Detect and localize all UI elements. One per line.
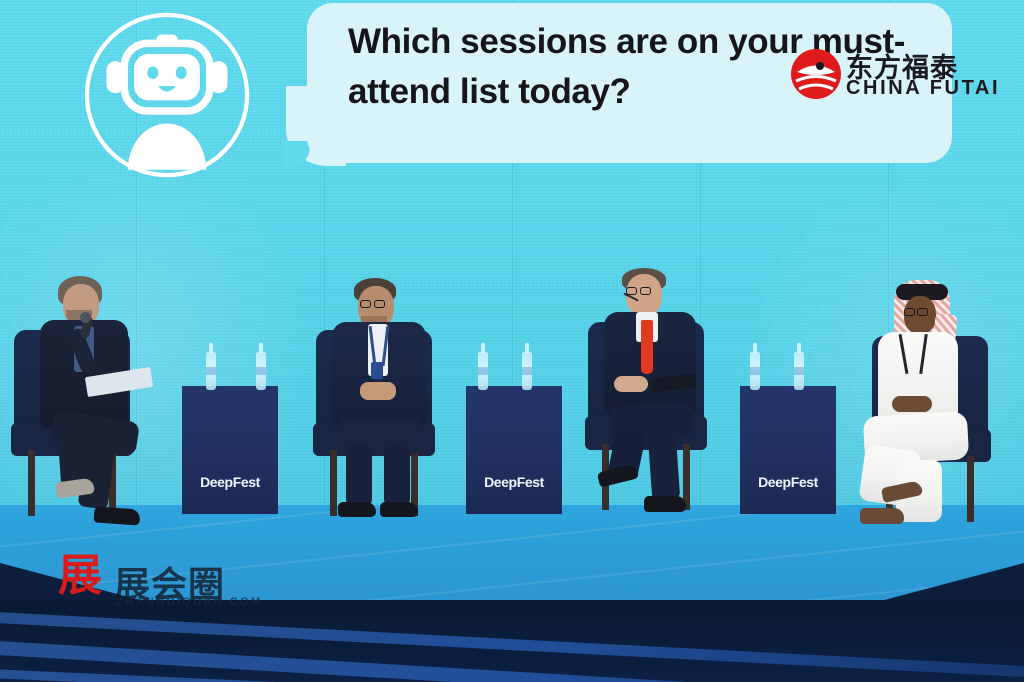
eyeglasses — [917, 308, 928, 316]
eyeglasses — [360, 300, 371, 308]
clasped-hands — [360, 382, 396, 400]
eyeglasses — [374, 300, 385, 308]
deepfest-logo-3: DeepFest — [740, 474, 836, 490]
zhanhuiquan-domain: ZHANHUIQUAN.COM — [116, 596, 263, 608]
water-bottle — [478, 352, 488, 390]
water-bottle — [794, 352, 804, 390]
lower-leg — [648, 433, 681, 501]
water-bottle — [206, 352, 216, 390]
water-bottle — [256, 352, 266, 390]
podium-table-1: DeepFest — [182, 386, 278, 514]
folded-arm — [892, 396, 932, 412]
sandal — [860, 508, 904, 524]
futai-english-name: CHINA FUTAI — [846, 77, 1000, 100]
eyeglasses — [904, 308, 915, 316]
lower-leg-left — [346, 446, 372, 506]
shoe-crossed — [597, 463, 639, 487]
podium-table-3: DeepFest — [740, 386, 836, 514]
eyeglasses — [640, 287, 651, 295]
futai-red-circle-mark — [790, 48, 842, 100]
panelist-2 — [326, 278, 468, 528]
necktie — [641, 320, 653, 374]
shoe-right — [380, 502, 418, 517]
deepfest-logo-2: DeepFest — [466, 474, 562, 490]
lower-leg-right — [384, 446, 410, 506]
deepfest-logo-1: DeepFest — [182, 474, 278, 490]
podium-table-2: DeepFest — [466, 386, 562, 514]
robot-avatar-icon — [78, 6, 256, 184]
shoe — [644, 496, 686, 512]
hand — [614, 376, 648, 392]
zhanhuiquan-red-mark: 展 — [58, 554, 102, 598]
zhanhuiquan-watermark: 展 展会圈 ZHANHUIQUAN.COM — [58, 556, 258, 618]
badge-card — [371, 362, 383, 379]
conference-panel-screenshot: DeepFest DeepFest DeepFest Which session… — [0, 0, 1024, 682]
microphone-head — [80, 312, 91, 323]
panelist-1-moderator — [30, 276, 180, 538]
panelist-3 — [596, 268, 746, 526]
panelist-4 — [858, 278, 1008, 530]
head — [626, 274, 662, 316]
shoe — [93, 506, 140, 525]
shoe-left — [338, 502, 376, 517]
water-bottle — [750, 352, 760, 390]
water-bottle — [522, 352, 532, 390]
china-futai-logo: 东方福泰 CHINA FUTAI — [790, 46, 990, 108]
